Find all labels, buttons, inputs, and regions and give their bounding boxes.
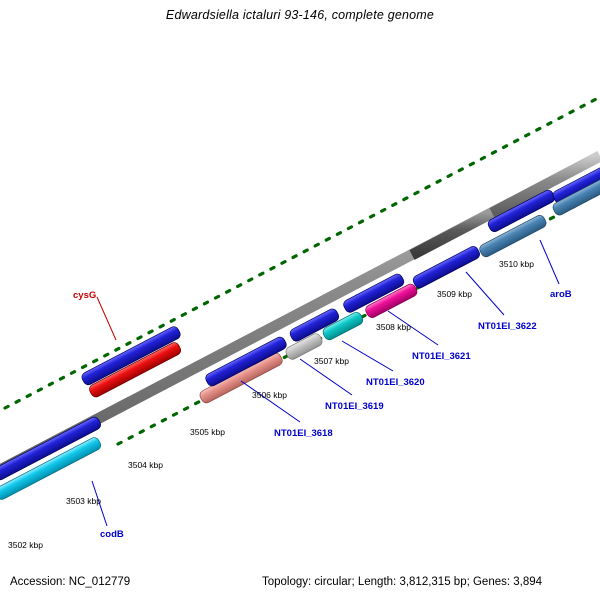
gene-label-cysg[interactable]: cysG	[73, 290, 96, 301]
gene-label-nt01ei_3620[interactable]: NT01EI_3620	[366, 377, 425, 388]
coordinate-label: 3508 kbp	[376, 322, 411, 332]
leader-line-arob	[540, 240, 559, 284]
coordinate-label: 3502 kbp	[8, 540, 43, 550]
coordinate-label: 3504 kbp	[128, 460, 163, 470]
gene-label-codb[interactable]: codB	[100, 529, 124, 540]
leader-line-cysg	[97, 297, 116, 340]
leader-line-nt01ei_3618	[241, 381, 300, 422]
coordinate-label: 3510 kbp	[499, 259, 534, 269]
gene-label-nt01ei_3622[interactable]: NT01EI_3622	[478, 321, 537, 332]
gene-label-nt01ei_3618[interactable]: NT01EI_3618	[274, 428, 333, 439]
gene-label-nt01ei_3619[interactable]: NT01EI_3619	[325, 401, 384, 412]
coordinate-label: 3503 kbp	[66, 496, 101, 506]
gene-label-nt01ei_3621[interactable]: NT01EI_3621	[412, 351, 471, 362]
gene-features[interactable]	[0, 164, 600, 501]
leader-line-nt01ei_3620	[342, 341, 393, 371]
gene-label-arob[interactable]: aroB	[550, 289, 572, 300]
coordinate-label: 3505 kbp	[190, 427, 225, 437]
coordinate-label: 3509 kbp	[437, 289, 472, 299]
coordinate-label: 3506 kbp	[252, 390, 287, 400]
coordinate-label: 3507 kbp	[314, 356, 349, 366]
topology-text: Topology: circular; Length: 3,812,315 bp…	[262, 576, 542, 588]
accession-text: Accession: NC_012779	[10, 576, 130, 588]
